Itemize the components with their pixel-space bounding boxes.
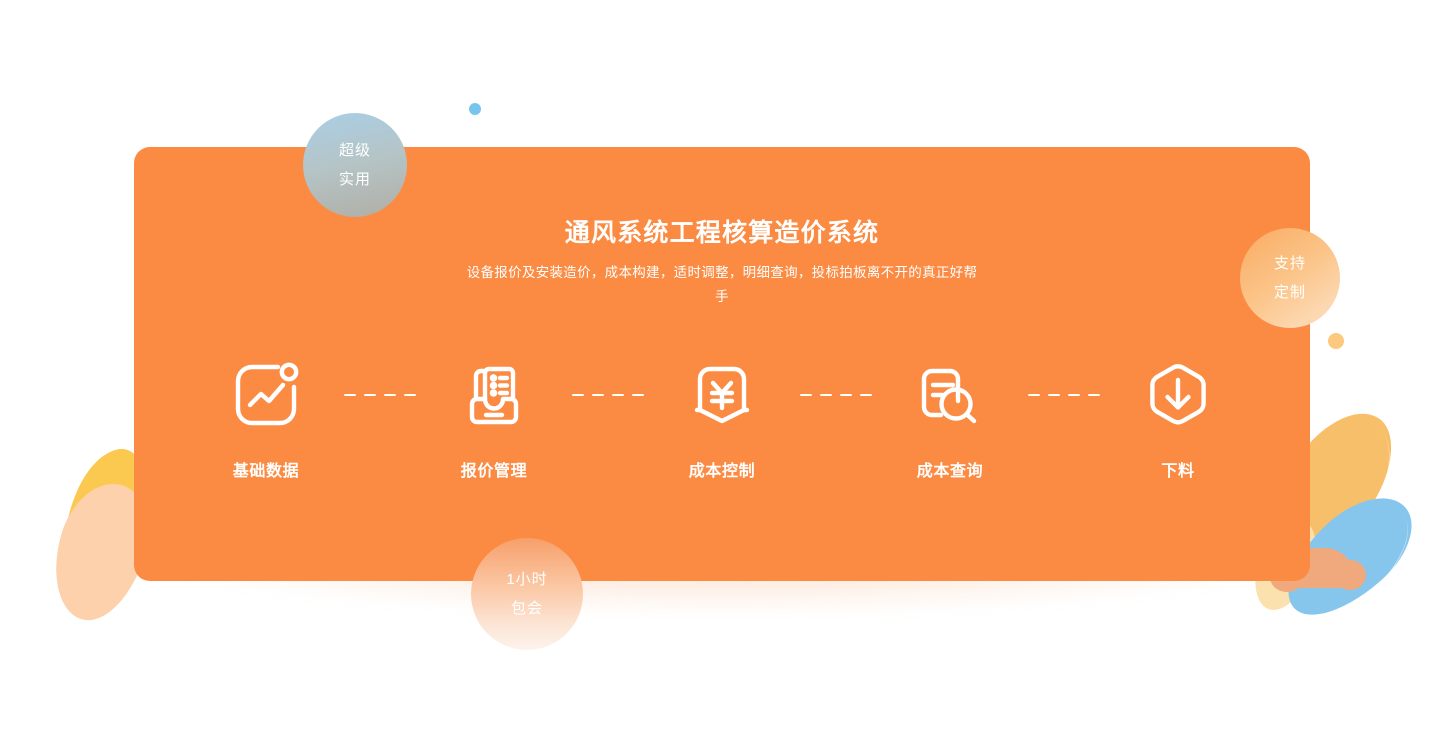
feature-card: 通风系统工程核算造价系统 设备报价及安装造价，成本构建，适时调整，明细查询，投标… xyxy=(134,147,1310,581)
dot-blue-small-icon xyxy=(469,103,481,115)
feature-list: 基础数据 xyxy=(134,355,1310,481)
feature-item-quotation[interactable]: 报价管理 xyxy=(425,355,563,481)
feature-item-cost-query[interactable]: 成本查询 xyxy=(881,355,1019,481)
hexagon-download-icon xyxy=(1138,355,1218,435)
feature-label: 成本查询 xyxy=(917,457,983,481)
feature-item-basic-data[interactable]: 基础数据 xyxy=(197,355,335,481)
badge-line-2: 定制 xyxy=(1274,278,1306,307)
inbox-document-icon xyxy=(454,355,534,435)
feature-item-unloading[interactable]: 下料 xyxy=(1109,355,1247,481)
connector-dashes xyxy=(791,375,881,415)
badge-support-custom: 支持 定制 xyxy=(1240,228,1340,328)
badge-line-1: 超级 xyxy=(339,136,371,165)
feature-label: 基础数据 xyxy=(233,457,299,481)
feature-item-cost-control[interactable]: 成本控制 xyxy=(653,355,791,481)
feature-label: 下料 xyxy=(1161,457,1194,481)
feature-label: 报价管理 xyxy=(461,457,527,481)
badge-one-hour: 1小时 包会 xyxy=(471,538,583,650)
connector-dashes xyxy=(1019,375,1109,415)
connector-dashes xyxy=(335,375,425,415)
page-subtitle: 设备报价及安装造价，成本构建，适时调整，明细查询，投标拍板离不开的真正好帮手 xyxy=(462,261,982,309)
promo-banner: 通风系统工程核算造价系统 设备报价及安装造价，成本构建，适时调整，明细查询，投标… xyxy=(0,0,1440,730)
badge-line-1: 1小时 xyxy=(506,565,547,594)
feature-label: 成本控制 xyxy=(689,457,755,481)
document-search-icon xyxy=(910,355,990,435)
badge-line-1: 支持 xyxy=(1274,249,1306,278)
page-title: 通风系统工程核算造价系统 xyxy=(134,213,1310,249)
connector-dashes xyxy=(563,375,653,415)
badge-line-2: 实用 xyxy=(339,165,371,194)
badge-line-2: 包会 xyxy=(511,594,543,623)
badge-super-useful: 超级 实用 xyxy=(303,113,407,217)
chart-card-icon xyxy=(226,355,306,435)
yuan-banner-icon xyxy=(682,355,762,435)
dot-orange-icon xyxy=(1328,333,1344,349)
